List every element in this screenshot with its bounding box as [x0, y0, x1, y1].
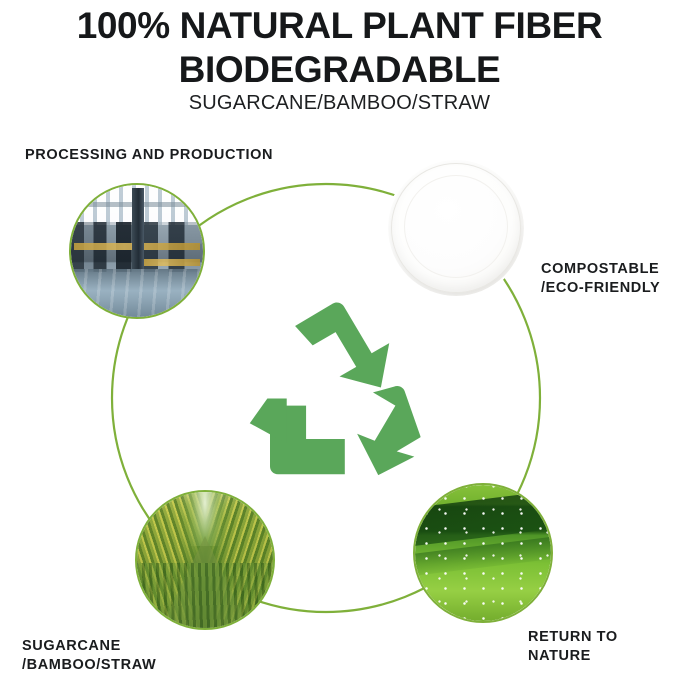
factory-column — [132, 188, 144, 270]
node-return-to-nature[interactable] — [413, 483, 553, 623]
headline-line-2: BIODEGRADABLE — [0, 48, 679, 92]
page-title: 100% NATURAL PLANT FIBER BIODEGRADABLE — [0, 4, 679, 92]
label-sugarcane-bamboo-straw: SUGARCANE /BAMBOO/STRAW — [22, 637, 156, 675]
node-compostable-plate[interactable] — [386, 158, 526, 298]
infographic-poster: 100% NATURAL PLANT FIBER BIODEGRADABLE S… — [0, 0, 679, 679]
plate-well — [404, 175, 508, 278]
label-processing-and-production: PROCESSING AND PRODUCTION — [25, 146, 273, 165]
plate-rim — [391, 163, 521, 293]
label-compostable-eco-friendly: COMPOSTABLE /ECO-FRIENDLY — [541, 260, 660, 298]
green-pasture-with-sheep-photo — [415, 485, 551, 621]
white-paper-plate-photo — [388, 160, 524, 296]
sugarcane-field-photo — [137, 492, 273, 628]
node-processing-and-production[interactable] — [69, 183, 205, 319]
factory-interior-photo — [71, 185, 203, 317]
page-subtitle: SUGARCANE/BAMBOO/STRAW — [0, 92, 679, 115]
factory-beam-secondary — [140, 259, 201, 266]
headline-line-1: 100% NATURAL PLANT FIBER — [0, 4, 679, 48]
label-return-to-nature: RETURN TO NATURE — [528, 628, 679, 666]
recycle-symbol-arrows — [248, 300, 424, 476]
factory-floor — [71, 269, 203, 317]
node-sugarcane-field[interactable] — [135, 490, 275, 630]
cane-foreground-rows — [137, 563, 273, 628]
sheep-dots — [415, 485, 551, 621]
